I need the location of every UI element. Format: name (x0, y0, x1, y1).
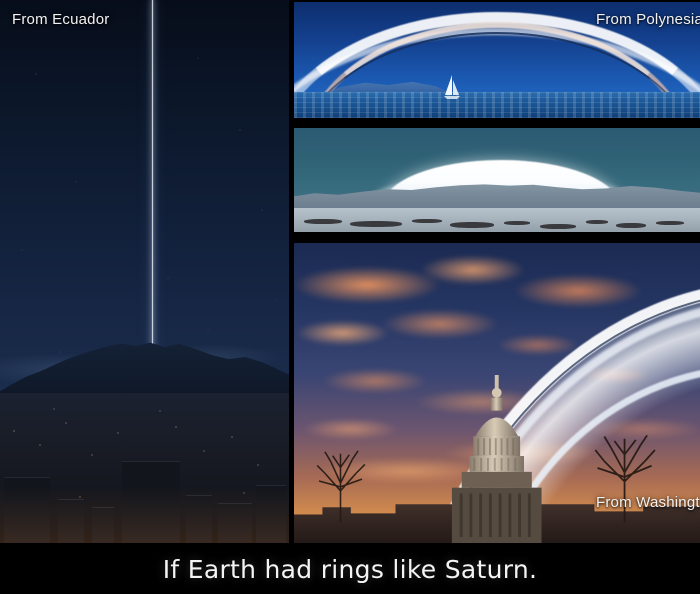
city-buildings (0, 0, 289, 543)
city-ambient-glow (0, 487, 289, 543)
panel-polynesia: From Polynesia (294, 2, 700, 118)
tundra-rocks (294, 128, 700, 232)
panel-label-ecuador: From Ecuador (12, 11, 109, 28)
ocean-surface (294, 92, 700, 118)
ring-collage-image: From Ecuador From Polynesia (0, 0, 700, 594)
panel-label-polynesia: From Polynesia (596, 11, 700, 28)
sailboat-icon (444, 74, 460, 100)
tree-left-icon (306, 444, 375, 522)
panel-ecuador: From Ecuador (0, 0, 289, 543)
caption-text: If Earth had rings like Saturn. (163, 555, 538, 584)
panel-washington-dc: From Washington D.C (294, 243, 700, 543)
caption-bar: If Earth had rings like Saturn. (0, 545, 700, 594)
panel-label-washington-dc: From Washington D.C (596, 494, 700, 511)
panel-alaska: From Alaska (294, 128, 700, 232)
